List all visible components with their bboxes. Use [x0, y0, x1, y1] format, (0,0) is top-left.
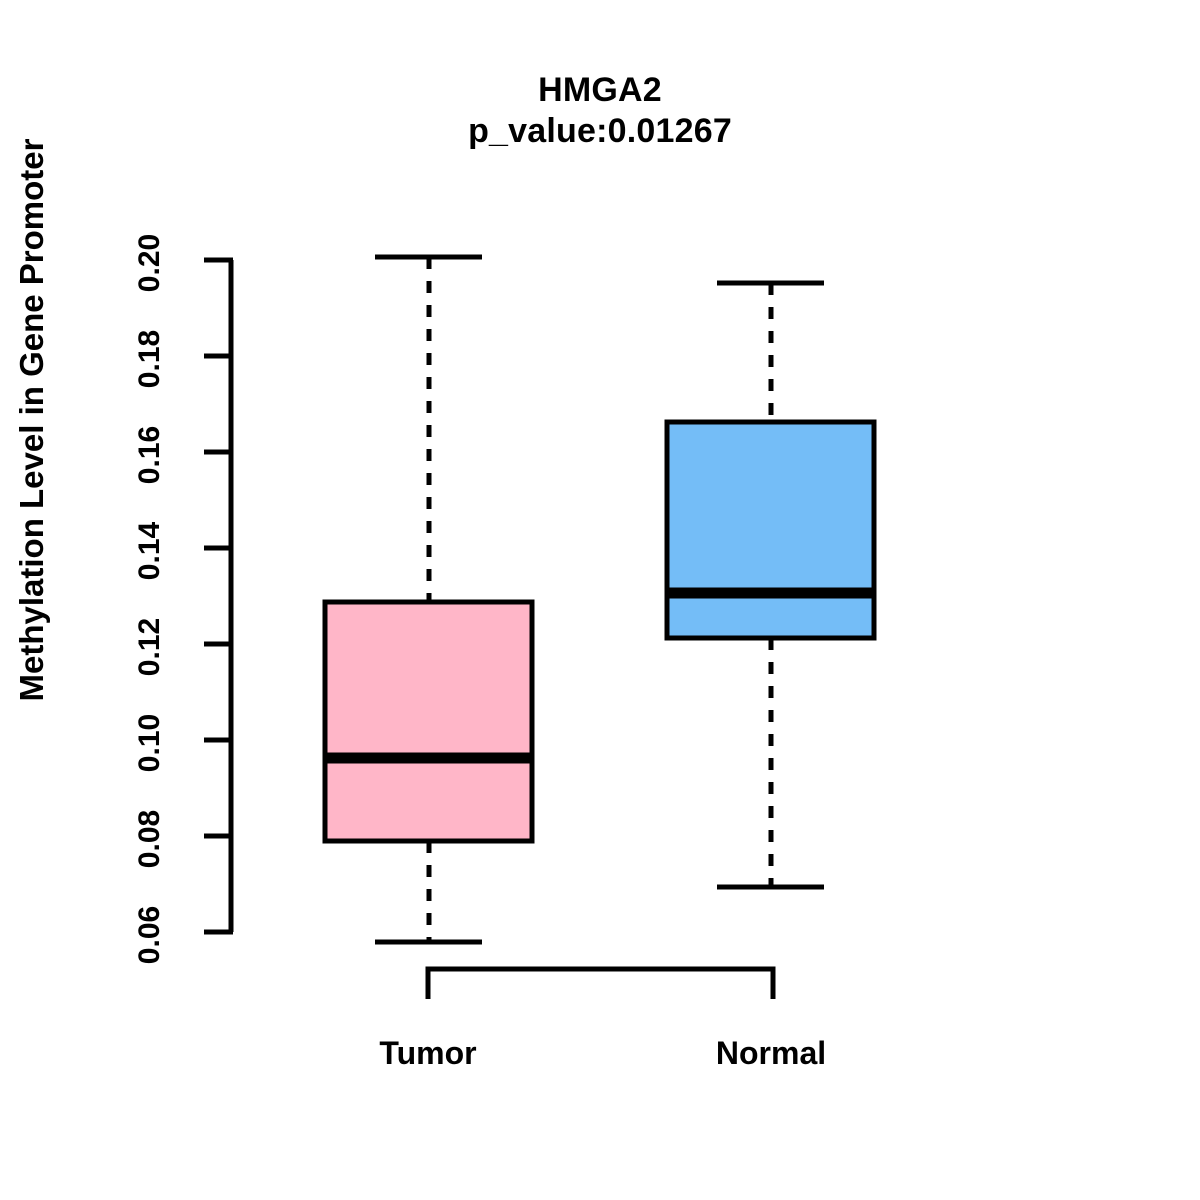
x-axis-label-normal: Normal [716, 1035, 826, 1072]
plot-canvas [0, 0, 1200, 1200]
normal-iqr-rect[interactable] [667, 422, 874, 638]
y-tick-label-0.18: 0.18 [133, 304, 167, 414]
y-tick-label-0.10: 0.10 [133, 688, 167, 798]
y-tick-label-0.16: 0.16 [133, 400, 167, 510]
box-tumor[interactable] [323, 257, 534, 942]
tumor-iqr-rect[interactable] [325, 602, 532, 841]
x-axis-label-tumor: Tumor [379, 1035, 476, 1072]
y-tick-label-0.20: 0.20 [133, 208, 167, 318]
y-tick-label-0.14: 0.14 [133, 496, 167, 606]
bracket-path [428, 969, 773, 999]
boxplot-figure: HMGA2 p_value:0.01267 Methylation Level … [0, 0, 1200, 1200]
comparison-bracket [428, 969, 773, 999]
y-axis [204, 260, 233, 932]
y-tick-label-0.06: 0.06 [133, 880, 167, 990]
y-tick-label-0.12: 0.12 [133, 592, 167, 702]
box-normal[interactable] [665, 283, 876, 887]
y-tick-label-0.08: 0.08 [133, 784, 167, 894]
